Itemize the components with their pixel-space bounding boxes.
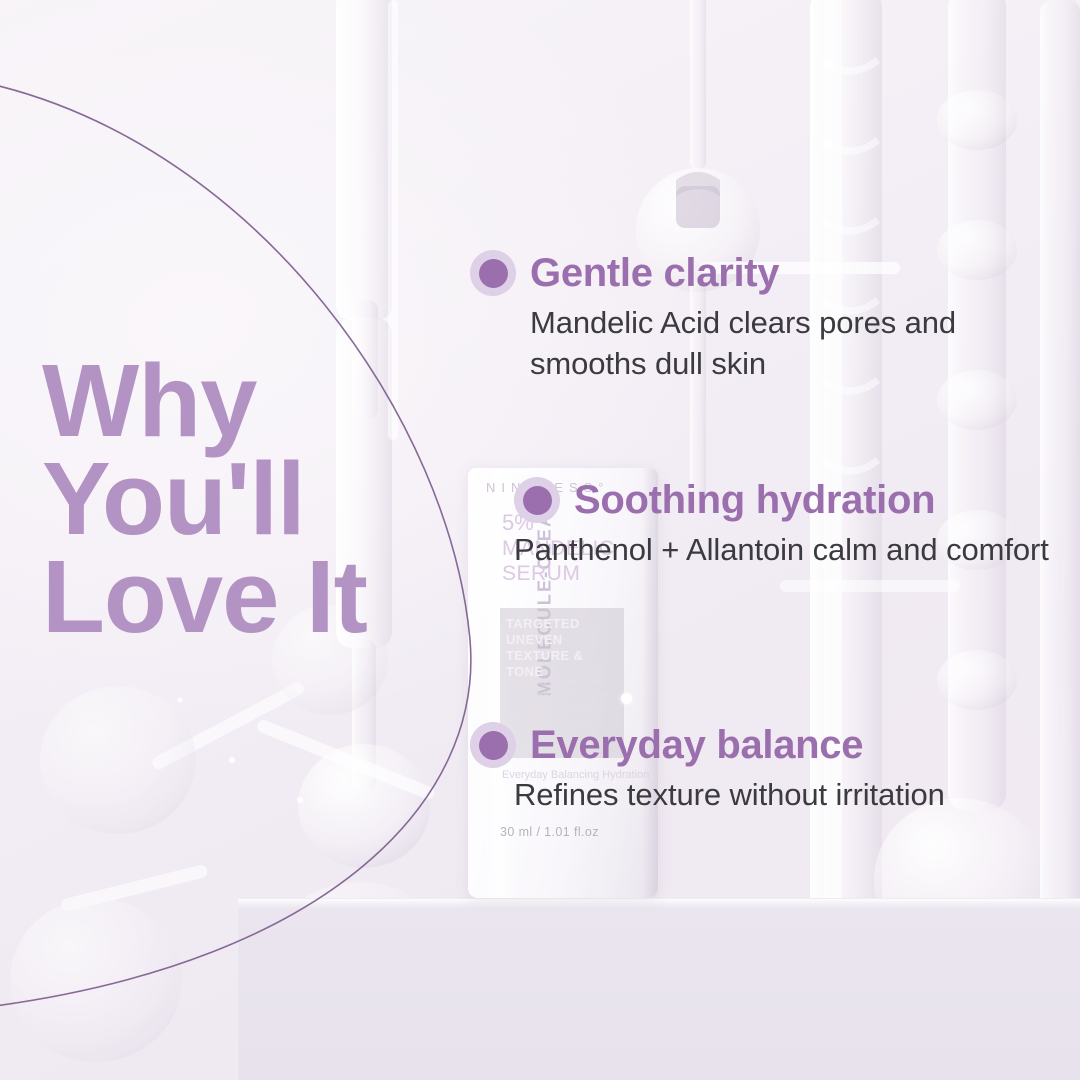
bottle-volume: 30 ml / 1.01 fl.oz bbox=[500, 825, 599, 839]
headline-line-2: You'll bbox=[42, 450, 442, 548]
benefit-description: Refines texture without irritation bbox=[514, 774, 1050, 815]
benefit-heading-row: Everyday balance bbox=[470, 722, 1050, 768]
pedestal-sheen bbox=[238, 899, 1080, 909]
benefit-title: Gentle clarity bbox=[530, 251, 779, 296]
bullet-dot-icon bbox=[514, 477, 560, 523]
headline-line-1: Why bbox=[42, 352, 442, 450]
benefit-item-gentle-clarity: Gentle clarity Mandelic Acid clears pore… bbox=[470, 250, 1050, 384]
benefit-item-soothing-hydration: Soothing hydration Panthenol + Allantoin… bbox=[470, 477, 1050, 570]
bullet-dot-icon bbox=[470, 250, 516, 296]
bottle-spec-dot-icon bbox=[621, 693, 632, 704]
benefit-heading-row: Gentle clarity bbox=[470, 250, 1050, 296]
benefit-title: Everyday balance bbox=[530, 723, 863, 768]
promo-canvas: NINELESS° MOLECULE-CLEAR 5% MANDELIC SER… bbox=[0, 0, 1080, 1080]
benefit-description: Panthenol + Allantoin calm and comfort bbox=[514, 529, 1050, 570]
bullet-dot-icon bbox=[470, 722, 516, 768]
benefit-description: Mandelic Acid clears pores and smooths d… bbox=[530, 302, 1050, 384]
benefit-heading-row: Soothing hydration bbox=[470, 477, 1050, 523]
page-title: Why You'll Love It bbox=[42, 352, 442, 646]
bottle-targeted-text: TARGETED UNEVEN TEXTURE & TONE bbox=[506, 616, 624, 680]
benefit-title: Soothing hydration bbox=[574, 478, 935, 523]
headline-line-3: Love It bbox=[42, 548, 442, 646]
product-pedestal bbox=[237, 898, 1080, 1080]
benefit-item-everyday-balance: Everyday balance Refines texture without… bbox=[470, 722, 1050, 815]
